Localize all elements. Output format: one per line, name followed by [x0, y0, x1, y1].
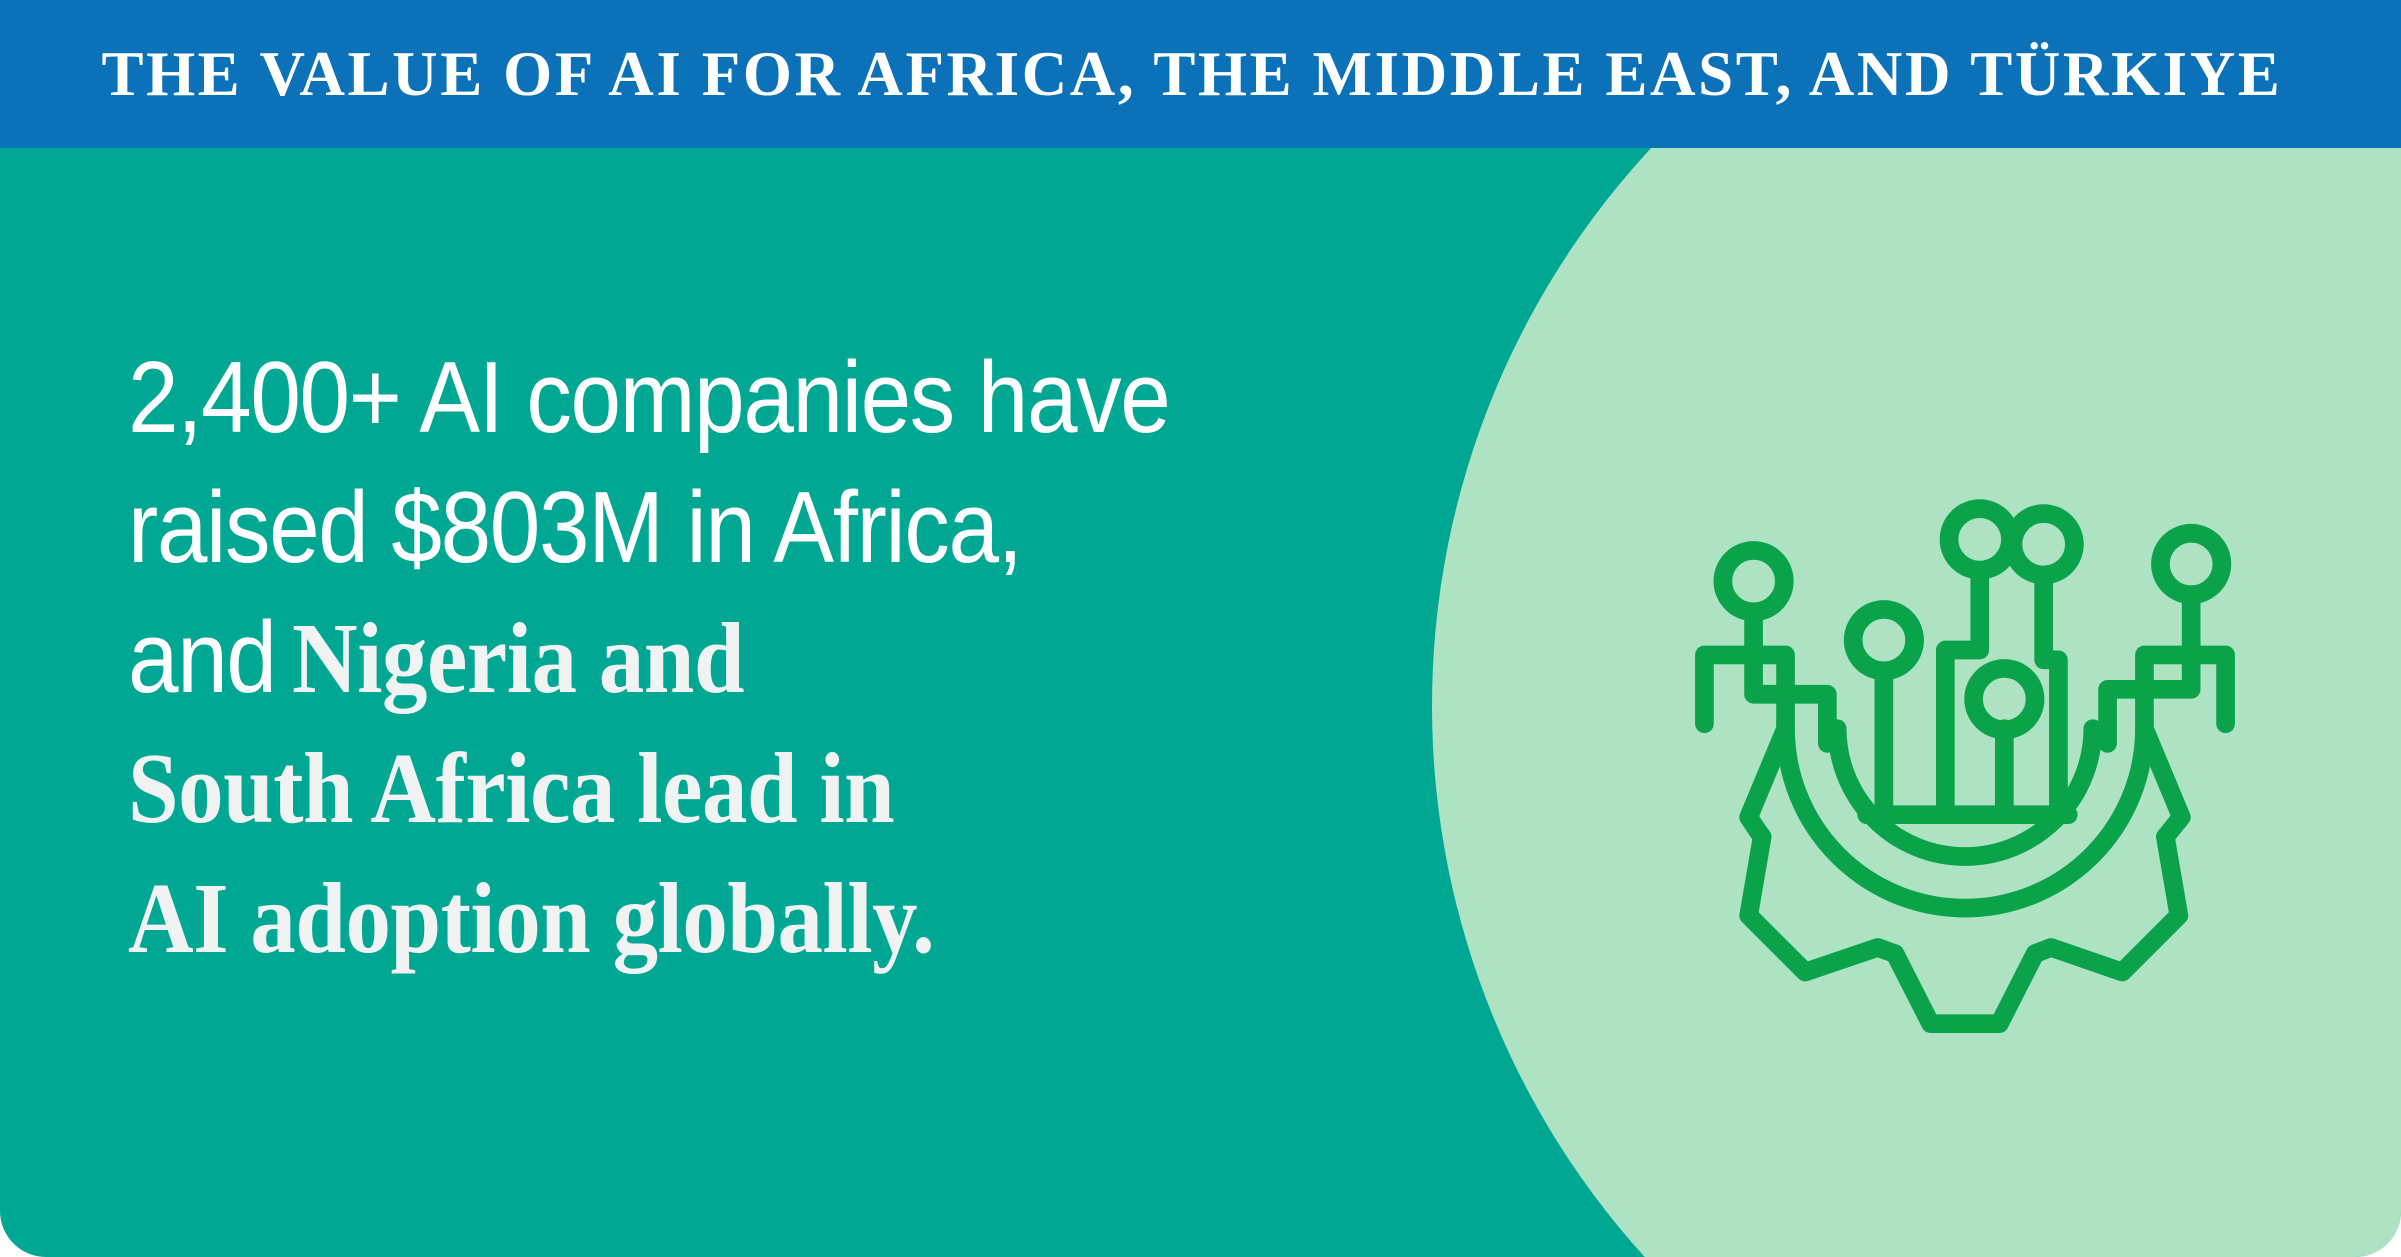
infographic-card: THE VALUE OF AI FOR AFRICA, THE MIDDLE E…: [0, 0, 2401, 1257]
statement-fragment: 2,400+ AI companies have: [128, 333, 1169, 463]
ai-gear-circuit-icon: [1670, 473, 2260, 1063]
statement-line-1: 2,400+ AI companies have: [128, 333, 1458, 463]
statement-fragment: raised $803M in Africa,: [128, 463, 1022, 593]
statement-fragment-emphasis: AI adoption globally.: [128, 853, 934, 983]
statement-fragment-emphasis: Nigeria and: [292, 593, 744, 723]
page-title: THE VALUE OF AI FOR AFRICA, THE MIDDLE E…: [0, 42, 2322, 106]
statement-line-4: South Africa lead in: [128, 723, 1458, 853]
body-panel: 2,400+ AI companies have raised $803M in…: [0, 148, 2401, 1257]
statement-fragment-emphasis: South Africa lead in: [128, 723, 894, 853]
statement-line-2: raised $803M in Africa,: [128, 463, 1458, 593]
statement-fragment: and: [128, 593, 276, 723]
header-band: THE VALUE OF AI FOR AFRICA, THE MIDDLE E…: [0, 0, 2401, 148]
statement-text: 2,400+ AI companies have raised $803M in…: [128, 333, 1458, 983]
statement-line-3: and Nigeria and: [128, 593, 1458, 723]
statement-line-5: AI adoption globally.: [128, 853, 1458, 983]
